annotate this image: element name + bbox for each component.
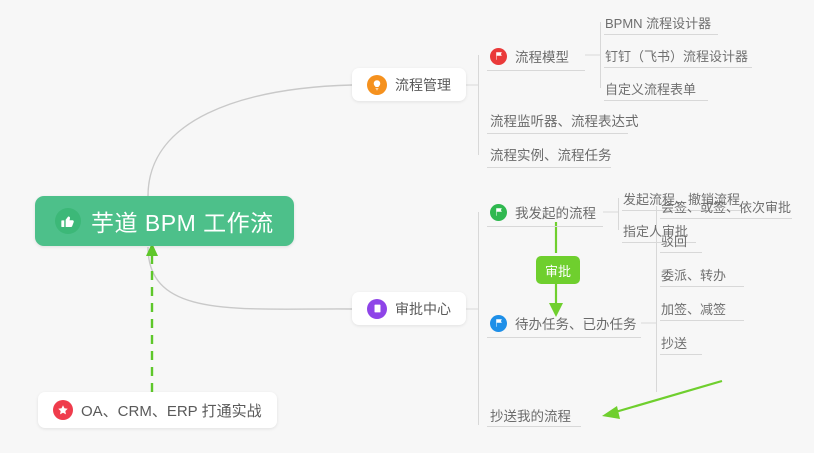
branch-node-process-management[interactable]: 流程管理 xyxy=(352,68,466,101)
leaf-node-add-remove-sign[interactable]: 加签、减签 xyxy=(661,297,726,319)
leaf-node-reject[interactable]: 驳回 xyxy=(661,229,687,251)
star-icon xyxy=(53,400,73,420)
underline-todo-tasks xyxy=(487,337,641,338)
sub-node-label: 待办任务、已办任务 xyxy=(515,313,637,333)
trunk-approval-center xyxy=(478,212,479,425)
underline-process-instance xyxy=(487,167,611,168)
leaf-node-label: 自定义流程表单 xyxy=(605,79,696,98)
underline-process-model xyxy=(487,70,585,71)
flag-icon xyxy=(490,48,507,65)
sub-node-label: 我发起的流程 xyxy=(515,202,596,222)
root-node-label: 芋道 BPM 工作流 xyxy=(91,204,274,238)
arrow-cc-to-cc-my-process xyxy=(612,381,722,413)
sub-node-cc-my-process[interactable]: 抄送我的流程 xyxy=(490,403,571,427)
sub-node-label: 抄送我的流程 xyxy=(490,405,571,425)
clipboard-icon xyxy=(367,299,387,319)
link-root-to-process-management xyxy=(148,85,352,196)
thumbs-up-icon xyxy=(55,208,81,234)
sub-node-process-model[interactable]: 流程模型 xyxy=(490,44,569,68)
underline-process-listener xyxy=(487,133,628,134)
flag-icon xyxy=(490,315,507,332)
leaf-node-label: BPMN 流程设计器 xyxy=(605,13,711,32)
branch-node-label: 审批中心 xyxy=(395,299,451,319)
tag-node-label: 审批 xyxy=(545,261,571,280)
underline-custom-form xyxy=(604,100,708,101)
sub-node-label: 流程实例、流程任务 xyxy=(490,144,612,164)
underline-dingtalk-designer xyxy=(604,67,752,68)
sub-node-process-instance[interactable]: 流程实例、流程任务 xyxy=(490,142,612,166)
sub-node-process-listener[interactable]: 流程监听器、流程表达式 xyxy=(490,108,639,132)
leaf-node-dingtalk-designer[interactable]: 钉钉（飞书）流程设计器 xyxy=(605,44,748,66)
lightbulb-icon xyxy=(367,75,387,95)
tag-node-approval[interactable]: 审批 xyxy=(536,256,580,284)
underline-cc xyxy=(660,354,702,355)
leaf-node-label: 钉钉（飞书）流程设计器 xyxy=(605,46,748,65)
trunk-process-model xyxy=(600,22,601,88)
underline-delegate xyxy=(660,286,744,287)
sub-node-todo-tasks[interactable]: 待办任务、已办任务 xyxy=(490,311,637,335)
leaf-node-delegate-transfer[interactable]: 委派、转办 xyxy=(661,263,726,285)
branch-node-label: 流程管理 xyxy=(395,75,451,95)
mindmap-canvas: 芋道 BPM 工作流 OA、CRM、ERP 打通实战 流程管理 流程模型 BPM… xyxy=(0,0,814,453)
sub-node-label: 流程模型 xyxy=(515,46,569,66)
link-root-to-approval-center xyxy=(148,247,352,309)
leaf-node-bpmn-designer[interactable]: BPMN 流程设计器 xyxy=(605,11,711,33)
branch-node-approval-center[interactable]: 审批中心 xyxy=(352,292,466,325)
trunk-process-management xyxy=(478,55,479,155)
underline-reject xyxy=(660,252,702,253)
leaf-node-label: 驳回 xyxy=(661,231,687,250)
leaf-node-multi-approval[interactable]: 会签、或签、依次审批 xyxy=(661,195,791,217)
root-node[interactable]: 芋道 BPM 工作流 xyxy=(35,196,294,246)
sub-node-label: 流程监听器、流程表达式 xyxy=(490,110,639,130)
sub-node-my-initiated[interactable]: 我发起的流程 xyxy=(490,200,596,224)
leaf-node-label: 抄送 xyxy=(661,333,687,352)
leaf-node-label: 会签、或签、依次审批 xyxy=(661,197,791,216)
flag-icon xyxy=(490,204,507,221)
underline-bpmn-designer xyxy=(604,34,718,35)
footnote-node[interactable]: OA、CRM、ERP 打通实战 xyxy=(38,392,277,428)
underline-my-initiated xyxy=(487,226,603,227)
leaf-node-label: 委派、转办 xyxy=(661,265,726,284)
underline-add-remove-sign xyxy=(660,320,744,321)
arrow-cc-to-cc-my-process-head xyxy=(602,406,620,419)
leaf-node-cc[interactable]: 抄送 xyxy=(661,331,687,353)
leaf-node-custom-form[interactable]: 自定义流程表单 xyxy=(605,77,696,99)
leaf-node-label: 加签、减签 xyxy=(661,299,726,318)
footnote-node-label: OA、CRM、ERP 打通实战 xyxy=(81,400,262,421)
trunk-my-initiated xyxy=(618,198,619,230)
